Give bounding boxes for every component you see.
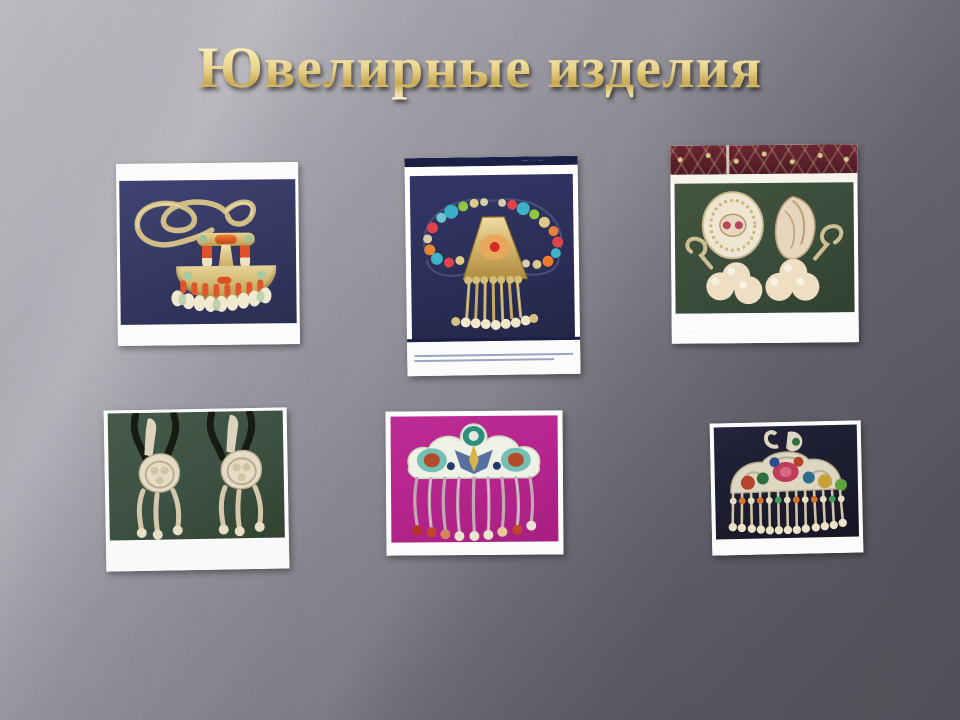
photo-5-canvas <box>385 410 563 555</box>
photo-1-bead-fringe <box>119 179 296 325</box>
photo-3-caption-microtext: ····· <box>685 329 694 335</box>
photo-5-enamelled-headpiece-with-tassels[interactable] <box>385 410 563 555</box>
photo-6-canvas <box>710 420 864 555</box>
photo-5-headpiece-graphic <box>391 415 559 542</box>
photo-6-headdress-graphic <box>714 425 859 540</box>
photo-1-top-white-band <box>116 162 298 180</box>
background-light-streak-2 <box>0 0 794 720</box>
photo-3-canvas: ····· <box>670 144 859 344</box>
photo-3-bottom-white-band <box>672 312 859 344</box>
photo-3-jewellery-graphic <box>674 182 854 314</box>
photo-4-pair-of-silver-braid-ornaments[interactable] <box>104 407 290 571</box>
photo-4-ornaments-graphic <box>108 410 285 540</box>
photo-6-silver-headdress-with-gems[interactable] <box>710 420 864 555</box>
photo-5-bottom-white-band <box>386 543 563 555</box>
photo-2-beaded-necklace-with-tasseled-pendant[interactable]: — ···· — <box>404 156 580 376</box>
photo-3-border-seam <box>726 145 729 174</box>
photo-2-canvas: — ···· — <box>404 156 580 376</box>
photo-2-header-microtext: — ···· — <box>522 157 543 163</box>
photo-1-bottom-white-band <box>118 324 300 346</box>
photo-4-canvas <box>104 407 290 571</box>
slide-title: Ювелирные изделия <box>0 36 960 100</box>
photo-2-necklace-graphic <box>410 174 575 342</box>
photo-3-patterned-border <box>670 144 857 175</box>
photo-6-bottom-white-band <box>712 539 863 555</box>
presentation-slide: Ювелирные изделия <box>0 0 960 720</box>
photo-4-bottom-white-band <box>106 539 289 571</box>
photo-1-canvas <box>116 162 300 346</box>
photo-1-gold-necklace-with-coral-pendant[interactable] <box>116 162 300 346</box>
photo-3-pearl-brooch-and-earrings-set[interactable]: ····· <box>670 144 859 344</box>
